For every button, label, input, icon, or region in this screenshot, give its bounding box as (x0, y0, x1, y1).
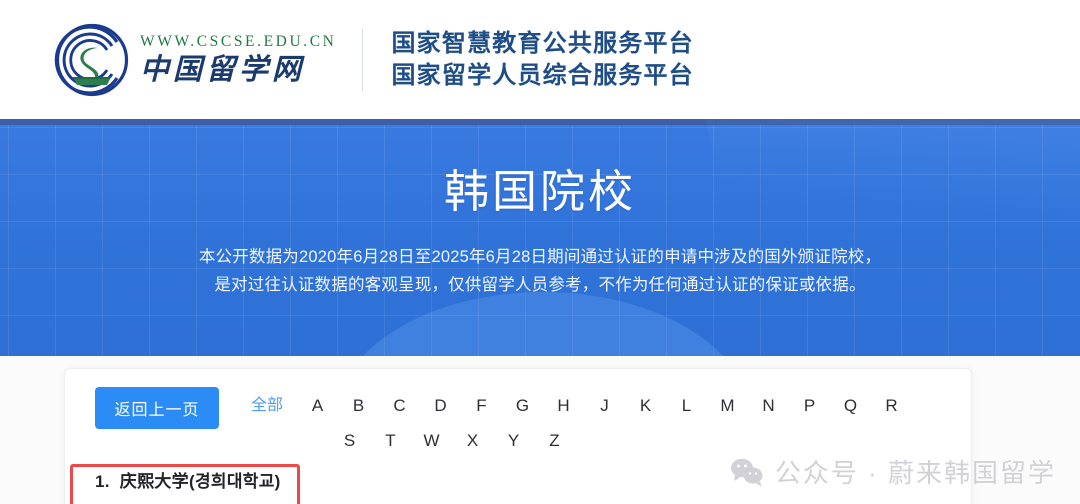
filter-row: 返回上一页 全部 A B C D F G H J K L M N P (65, 369, 971, 452)
filter-letter-s[interactable]: S (329, 430, 370, 451)
banner-description-line-1: 本公开数据为2020年6月28日至2025年6月28日期间通过认证的申请中涉及的… (0, 243, 1080, 271)
filter-letter-m[interactable]: M (707, 395, 748, 416)
page-root: WWW.CSCSE.EDU.CN 中国留学网 国家智慧教育公共服务平台 国家留学… (0, 0, 1080, 504)
filter-letter-f[interactable]: F (461, 395, 502, 416)
site-header: WWW.CSCSE.EDU.CN 中国留学网 国家智慧教育公共服务平台 国家留学… (0, 0, 1080, 119)
list-item-name-kr: (경희대학교) (189, 472, 281, 491)
page-banner: 韩国院校 本公开数据为2020年6月28日至2025年6月28日期间通过认证的申… (0, 119, 1080, 356)
list-item[interactable]: 1.庆熙大学(경희대학교) (95, 467, 281, 492)
brand-logo[interactable]: WWW.CSCSE.EDU.CN 中国留学网 (54, 22, 336, 98)
filter-letter-b[interactable]: B (338, 395, 379, 416)
header-divider (362, 28, 363, 92)
cscse-circular-emblem-icon (54, 22, 130, 98)
filter-letter-c[interactable]: C (379, 395, 420, 416)
logo-url-text: WWW.CSCSE.EDU.CN (140, 34, 336, 50)
filter-letter-x[interactable]: X (452, 430, 493, 451)
list-item-index: 1. (95, 472, 110, 491)
filter-letter-h[interactable]: H (543, 395, 584, 416)
page-title: 韩国院校 (0, 167, 1080, 217)
banner-description: 本公开数据为2020年6月28日至2025年6月28日期间通过认证的申请中涉及的… (0, 243, 1080, 300)
logo-chinese-name: 中国留学网 (140, 56, 336, 85)
filter-letter-j[interactable]: J (584, 395, 625, 416)
filter-letter-k[interactable]: K (625, 395, 666, 416)
filter-all[interactable]: 全部 (237, 396, 297, 416)
banner-content: 韩国院校 本公开数据为2020年6月28日至2025年6月28日期间通过认证的申… (0, 167, 1080, 299)
filter-letter-n[interactable]: N (748, 395, 789, 416)
banner-description-line-2: 是对过往认证数据的客观呈现，仅供留学人员参考，不作为任何通过认证的保证或依据。 (0, 271, 1080, 299)
platform-title-line-2: 国家留学人员综合服务平台 (391, 60, 693, 92)
filter-letter-w[interactable]: W (411, 430, 452, 451)
filter-letter-p[interactable]: P (789, 395, 830, 416)
content-card: 返回上一页 全部 A B C D F G H J K L M N P (64, 368, 972, 504)
filter-letter-r[interactable]: R (871, 395, 912, 416)
platform-title-line-1: 国家智慧教育公共服务平台 (391, 28, 693, 60)
alphabet-filter-row-1: 全部 A B C D F G H J K L M N P Q R (237, 395, 971, 416)
platform-titles: 国家智慧教育公共服务平台 国家留学人员综合服务平台 (391, 28, 693, 92)
back-to-previous-page-button[interactable]: 返回上一页 (95, 387, 219, 429)
filter-letter-q[interactable]: Q (830, 395, 871, 416)
alphabet-filter: 全部 A B C D F G H J K L M N P Q R (237, 387, 971, 452)
alphabet-filter-row-2: S T W X Y Z (237, 430, 971, 451)
filter-letter-t[interactable]: T (370, 430, 411, 451)
logo-wordmark: WWW.CSCSE.EDU.CN 中国留学网 (140, 34, 336, 86)
list-item-name-cn: 庆熙大学 (120, 472, 189, 491)
filter-letter-d[interactable]: D (420, 395, 461, 416)
filter-letter-g[interactable]: G (502, 395, 543, 416)
filter-letter-a[interactable]: A (297, 395, 338, 416)
filter-letter-y[interactable]: Y (493, 430, 534, 451)
filter-letter-l[interactable]: L (666, 395, 707, 416)
filter-letter-z[interactable]: Z (534, 430, 575, 451)
